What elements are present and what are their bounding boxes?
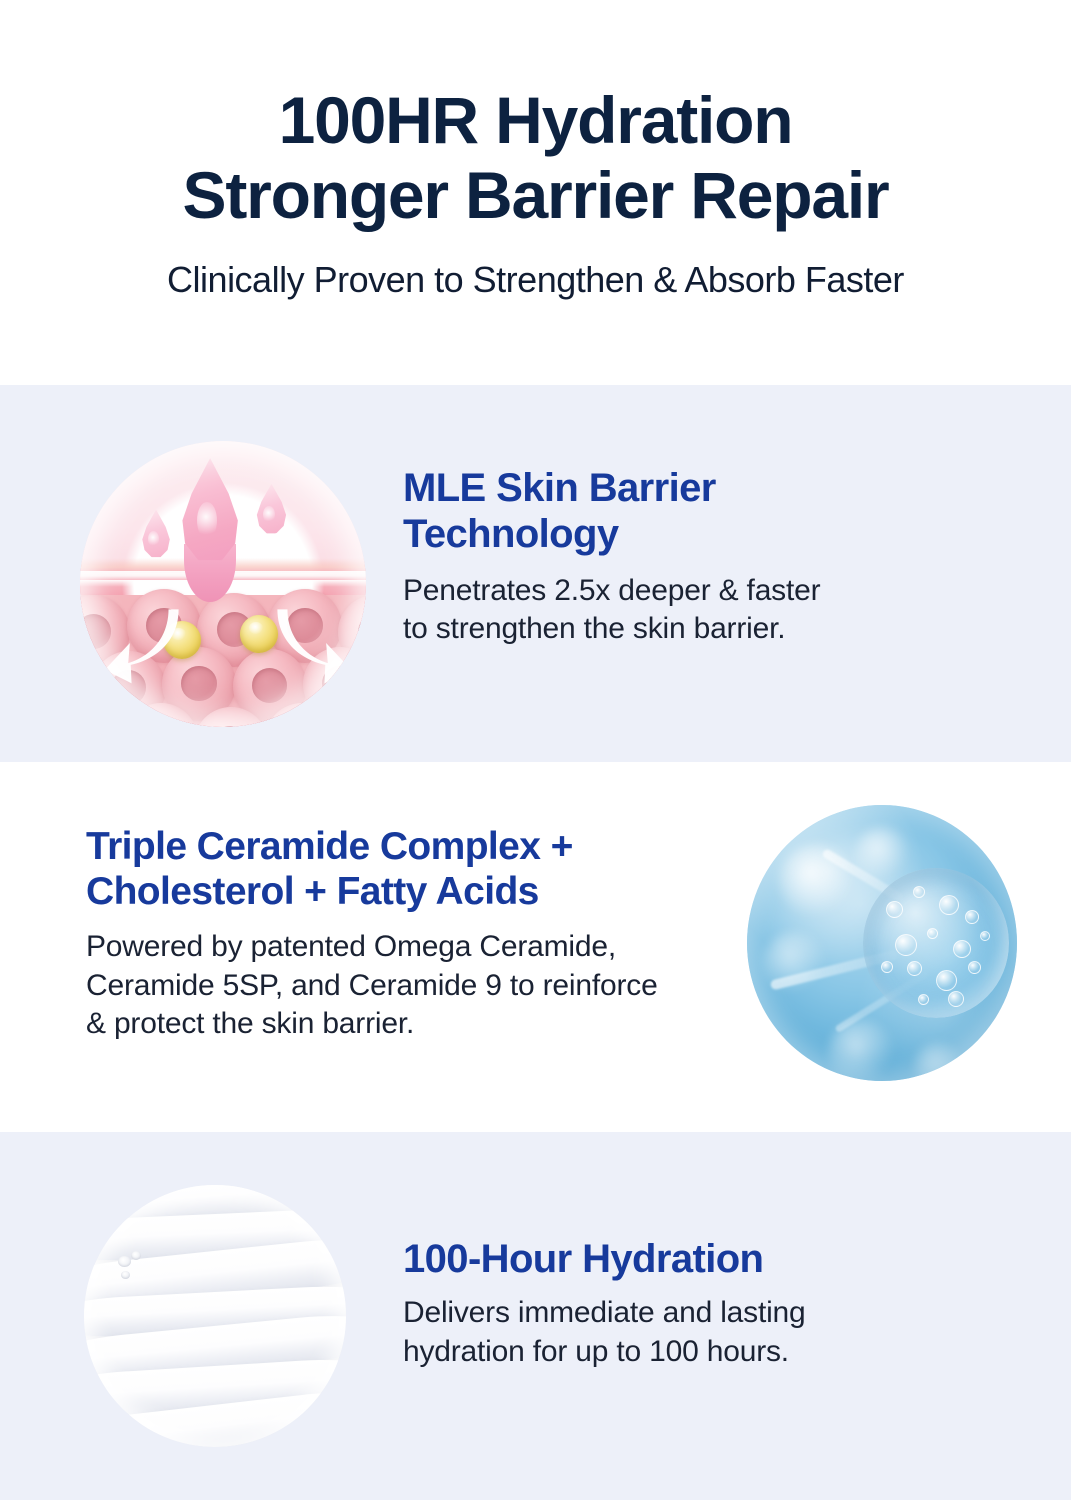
feature-2-body-line-3: & protect the skin barrier.: [86, 1005, 826, 1043]
headline-line-1: 100HR Hydration: [183, 83, 889, 158]
feature-3-title: 100-Hour Hydration: [403, 1236, 1013, 1282]
feature-3-description: Delivers immediate and lasting hydration…: [403, 1294, 1013, 1371]
small-droplet-right-icon: [254, 484, 288, 534]
cream-texture-art: [84, 1185, 346, 1447]
feature-1-copy: MLE Skin Barrier Technology Penetrates 2…: [403, 465, 1013, 649]
small-droplet-left-icon: [140, 510, 172, 558]
feature-2-body-line-2: Ceramide 5SP, and Ceramide 9 to reinforc…: [86, 967, 826, 1005]
page-subtitle: Clinically Proven to Strengthen & Absorb…: [167, 258, 904, 301]
feature-mle-skin-barrier-technology: MLE Skin Barrier Technology Penetrates 2…: [0, 385, 1071, 762]
feature-2-description: Powered by patented Omega Ceramide, Cera…: [86, 928, 826, 1043]
feature-2-title-line-1: Triple Ceramide Complex +: [86, 824, 826, 869]
feature-1-title-line-1: MLE Skin Barrier: [403, 465, 1013, 511]
header-section: 100HR Hydration Stronger Barrier Repair …: [0, 0, 1071, 385]
feature-2-body-line-1: Powered by patented Omega Ceramide,: [86, 928, 826, 966]
feature-2-title: Triple Ceramide Complex + Cholesterol + …: [86, 824, 826, 914]
feature-band-2: Triple Ceramide Complex + Cholesterol + …: [0, 762, 1071, 1132]
feature-3-body-line-2: hydration for up to 100 hours.: [403, 1333, 1013, 1371]
feature-2-title-line-2: Cholesterol + Fatty Acids: [86, 869, 826, 914]
feature-2-copy: Triple Ceramide Complex + Cholesterol + …: [86, 824, 826, 1044]
feature-100-hour-hydration: 100-Hour Hydration Delivers immediate an…: [0, 1132, 1071, 1500]
absorption-arrow-left-icon: [103, 601, 187, 685]
feature-1-body-line-1: Penetrates 2.5x deeper & faster: [403, 572, 1013, 610]
absorption-arrow-right-icon: [269, 601, 353, 685]
feature-triple-ceramide-complex: Triple Ceramide Complex + Cholesterol + …: [0, 762, 1071, 1132]
feature-3-title-line-1: 100-Hour Hydration: [403, 1236, 1013, 1282]
cream-texture-image: [84, 1185, 346, 1447]
feature-1-title-line-2: Technology: [403, 511, 1013, 557]
feature-band-3: 100-Hour Hydration Delivers immediate an…: [0, 1132, 1071, 1500]
feature-band-1: MLE Skin Barrier Technology Penetrates 2…: [0, 385, 1071, 762]
feature-1-description: Penetrates 2.5x deeper & faster to stren…: [403, 572, 1013, 649]
page-title: 100HR Hydration Stronger Barrier Repair: [183, 83, 889, 240]
skin-barrier-illustration: [80, 441, 366, 727]
headline-line-2: Stronger Barrier Repair: [183, 158, 889, 233]
feature-3-body-line-1: Delivers immediate and lasting: [403, 1294, 1013, 1332]
bubble-cluster: [863, 868, 1009, 1017]
feature-1-title: MLE Skin Barrier Technology: [403, 465, 1013, 558]
feature-1-body-line-2: to strengthen the skin barrier.: [403, 610, 1013, 648]
skin-barrier-art: [80, 441, 366, 727]
infographic-page: 100HR Hydration Stronger Barrier Repair …: [0, 0, 1071, 1500]
feature-3-copy: 100-Hour Hydration Delivers immediate an…: [403, 1236, 1013, 1371]
